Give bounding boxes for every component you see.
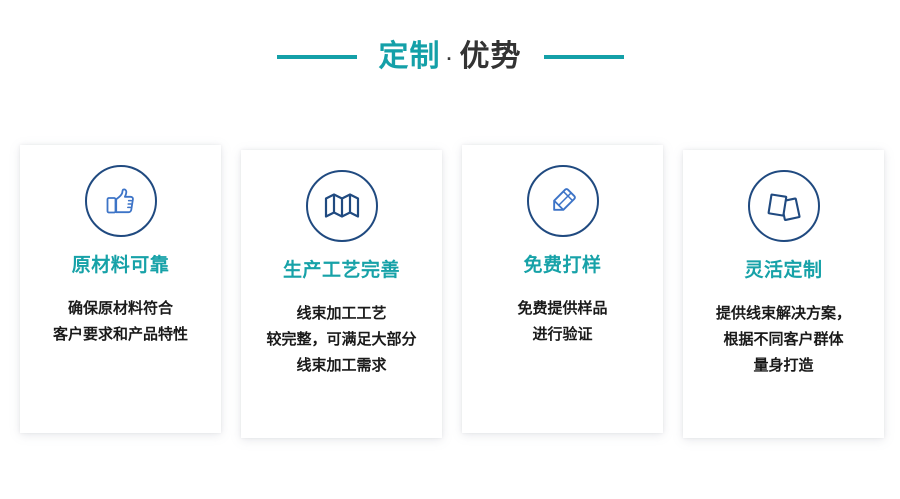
icon-circle [306,170,378,242]
card-description-line: 量身打造 [716,353,851,379]
feature-card-list: 原材料可靠 确保原材料符合 客户要求和产品特性 生产工艺完善 线束加工工艺 较完… [20,145,884,435]
card-description-line: 确保原材料符合 [53,296,188,322]
card-description-line: 客户要求和产品特性 [53,322,188,348]
thumbs-up-icon [103,183,139,219]
card-description-line: 进行验证 [517,322,607,348]
card-description: 免费提供样品 进行验证 [507,296,617,349]
heading-accent-text: 定制 [379,42,441,72]
feature-card-flexible-custom[interactable]: 灵活定制 提供线束解决方案， 根据不同客户群体 量身打造 [683,150,884,438]
icon-circle [85,165,157,237]
pencil-icon [545,183,581,219]
card-title: 免费打样 [523,255,601,278]
card-description-line: 免费提供样品 [517,296,607,322]
feature-card-production-process[interactable]: 生产工艺完善 线束加工工艺 较完整，可满足大部分 线束加工需求 [241,150,442,438]
icon-circle [527,165,599,237]
card-description: 提供线束解决方案， 根据不同客户群体 量身打造 [706,301,861,380]
card-title: 生产工艺完善 [283,260,400,283]
card-title: 灵活定制 [744,260,822,283]
heading-rule-left [277,55,357,59]
feature-card-free-sample[interactable]: 免费打样 免费提供样品 进行验证 [462,145,663,433]
stacked-cards-icon [765,188,803,224]
card-description-line: 根据不同客户群体 [716,327,851,353]
heading-main-text: 优势 [460,42,522,72]
section-heading: 定制 · 优势 [0,34,900,80]
card-description-line: 提供线束解决方案， [716,301,851,327]
card-description-line: 线束加工工艺 [266,301,416,327]
heading-rule-right [544,55,624,59]
page-title: 定制 · 优势 [379,42,522,72]
heading-separator-dot: · [441,50,460,68]
feature-card-raw-material[interactable]: 原材料可靠 确保原材料符合 客户要求和产品特性 [20,145,221,433]
card-description: 确保原材料符合 客户要求和产品特性 [43,296,198,349]
card-title: 原材料可靠 [72,255,170,278]
folded-map-icon [323,189,361,223]
card-description: 线束加工工艺 较完整，可满足大部分 线束加工需求 [256,301,426,380]
card-description-line: 较完整，可满足大部分 [266,327,416,353]
icon-circle [748,170,820,242]
card-description-line: 线束加工需求 [266,353,416,379]
